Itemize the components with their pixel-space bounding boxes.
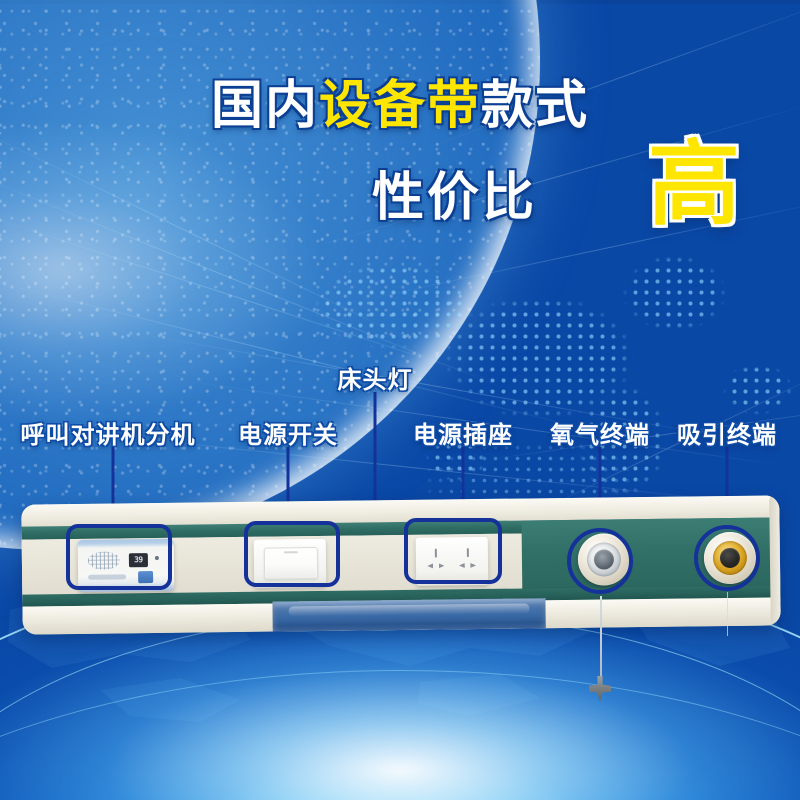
callout-label-switch: 电源开关: [238, 415, 338, 450]
socket-live-slot-icon: [459, 563, 465, 568]
callout-label-lamp: 床头灯: [338, 360, 413, 395]
callout-label-suction: 吸引终端: [677, 415, 777, 450]
headline-emphasis-character: 高: [648, 139, 740, 231]
socket-live-slot-icon: [427, 563, 433, 568]
callout-label-socket: 电源插座: [413, 415, 513, 450]
promo-image: 国内设备带款式 性价比 高 呼叫对讲机分机电源开关床头灯电源插座氧气终端吸引终端…: [0, 0, 800, 800]
bedside-lamp-diffuser[interactable]: [273, 598, 546, 631]
headline-line-2: 性价比 高: [0, 155, 800, 235]
power-switch[interactable]: [254, 539, 327, 588]
bed-head-unit-panel: 39: [22, 500, 780, 630]
headline-part-1: 国内: [211, 77, 319, 135]
intercom-call-button[interactable]: [138, 571, 153, 583]
callout-label-oxygen: 氧气终端: [550, 415, 650, 450]
headline-part-2: 设备带: [319, 77, 481, 135]
callout-label-intercom: 呼叫对讲机分机: [21, 415, 196, 450]
oxygen-port-core: [594, 550, 614, 570]
headline-line-1: 国内设备带款式: [0, 78, 800, 134]
socket-neutral-slot-icon: [439, 563, 445, 568]
panel-end-cap-right: [769, 495, 781, 627]
power-socket[interactable]: [416, 537, 489, 586]
headline-part-3: 款式: [481, 77, 589, 135]
socket-neutral-slot-icon: [470, 563, 476, 568]
speaker-grille-icon: [87, 552, 120, 570]
intercom-display: 39: [129, 553, 148, 568]
intercom-indicator-led: [155, 556, 159, 560]
nurse-call-intercom[interactable]: 39: [78, 539, 175, 592]
socket-earth-slot-icon: [466, 548, 468, 557]
suction-drain-tube: [727, 592, 728, 636]
headline-subtitle: 性价比: [372, 155, 537, 230]
intercom-label-slot: [88, 575, 126, 580]
panel-body: 39: [21, 495, 781, 634]
suction-port-core: [720, 548, 740, 568]
socket-gang-left[interactable]: [423, 546, 449, 577]
headline-block: 国内设备带款式: [0, 78, 800, 134]
socket-gang-right[interactable]: [455, 546, 481, 577]
socket-earth-slot-icon: [435, 549, 437, 558]
switch-rocker[interactable]: [264, 547, 318, 579]
